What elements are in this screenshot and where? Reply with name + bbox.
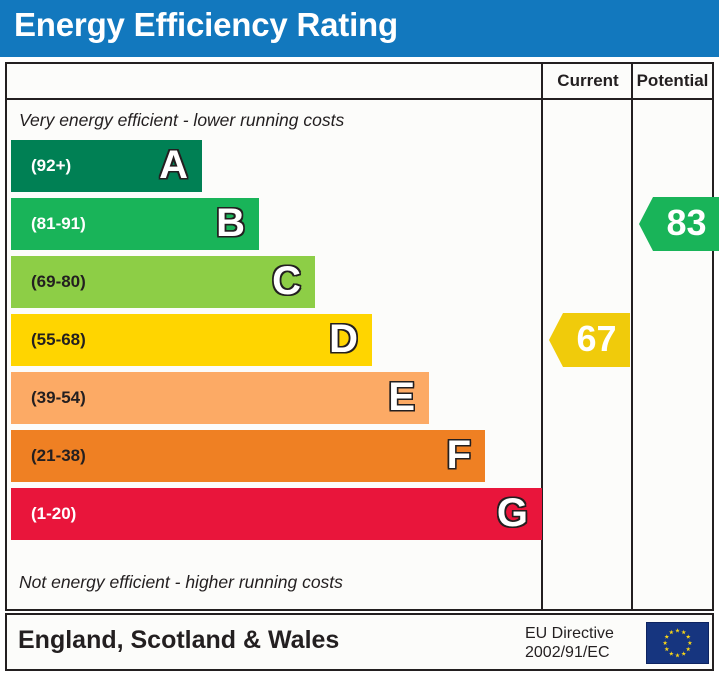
band-letter-d: D [329,314,358,366]
band-letter-c: C [272,256,301,308]
band-range-g: (1-20) [31,488,76,540]
band-letter-g: G [497,488,528,540]
certificate-footer: England, Scotland & Wales EU Directive 2… [5,613,714,671]
band-row-f: (21-38) F [11,430,485,482]
efficiency-band-chart: Very energy efficient - lower running co… [7,100,541,609]
column-header-potential: Potential [633,64,712,98]
band-range-e: (39-54) [31,372,86,424]
band-row-a: (92+) A [11,140,202,192]
band-range-d: (55-68) [31,314,86,366]
potential-rating-marker: 83 [639,197,719,251]
rating-table: Current Potential Very energy efficient … [5,62,714,611]
band-letter-f: F [447,430,471,482]
band-letter-e: E [388,372,415,424]
current-rating-marker: 67 [549,313,630,367]
band-letter-b: B [216,198,245,250]
footer-directive-label: EU Directive 2002/91/EC [525,624,635,662]
column-divider-right [631,64,633,609]
band-row-d: (55-68) D [11,314,372,366]
current-rating-value: 67 [563,313,630,367]
band-range-f: (21-38) [31,430,86,482]
band-range-b: (81-91) [31,198,86,250]
potential-rating-value: 83 [653,197,719,251]
column-header-row: Current Potential [7,64,712,100]
band-letter-a: A [159,140,188,192]
chart-header-banner: Energy Efficiency Rating [0,0,719,57]
band-row-b: (81-91) B [11,198,259,250]
eu-flag-icon [646,622,709,664]
band-row-g: (1-20) G [11,488,542,540]
footer-directive-line2: 2002/91/EC [525,643,635,662]
band-row-e: (39-54) E [11,372,429,424]
column-header-current: Current [543,64,633,98]
footer-region-label: England, Scotland & Wales [18,626,339,655]
band-row-c: (69-80) C [11,256,315,308]
band-range-a: (92+) [31,140,71,192]
band-range-c: (69-80) [31,256,86,308]
caption-efficient: Very energy efficient - lower running co… [19,110,529,131]
energy-efficiency-rating-certificate: Energy Efficiency Rating Current Potenti… [0,0,719,675]
page-title: Energy Efficiency Rating [14,6,398,44]
footer-directive-line1: EU Directive [525,624,635,643]
caption-inefficient: Not energy efficient - higher running co… [19,572,529,593]
